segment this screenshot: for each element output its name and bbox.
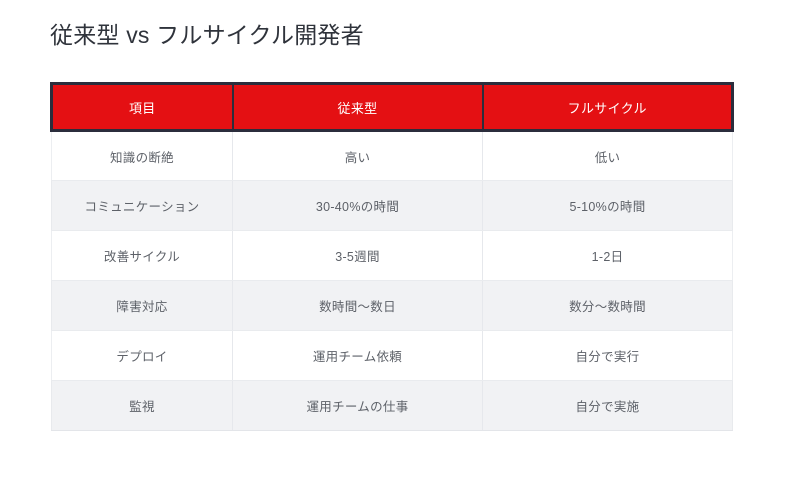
cell-traditional: 3-5週間 [233, 231, 483, 281]
cell-item: 知識の断絶 [52, 131, 233, 181]
cell-fullcycle: 自分で実行 [483, 331, 733, 381]
table-body: 知識の断絶 高い 低い コミュニケーション 30-40%の時間 5-10%の時間… [52, 131, 733, 431]
table-row: 監視 運用チームの仕事 自分で実施 [52, 381, 733, 431]
cell-fullcycle: 低い [483, 131, 733, 181]
cell-traditional: 運用チーム依頼 [233, 331, 483, 381]
table-header: 項目 従来型 フルサイクル [52, 84, 733, 131]
cell-fullcycle: 5-10%の時間 [483, 181, 733, 231]
cell-traditional: 30-40%の時間 [233, 181, 483, 231]
column-header-item: 項目 [52, 84, 233, 131]
table-row: 障害対応 数時間〜数日 数分〜数時間 [52, 281, 733, 331]
table-row: デプロイ 運用チーム依頼 自分で実行 [52, 331, 733, 381]
comparison-table: 項目 従来型 フルサイクル 知識の断絶 高い 低い コミュニケーション 30-4… [50, 82, 734, 431]
cell-traditional: 数時間〜数日 [233, 281, 483, 331]
page-title: 従来型 vs フルサイクル開発者 [50, 18, 364, 52]
table-header-row: 項目 従来型 フルサイクル [52, 84, 733, 131]
table-row: 改善サイクル 3-5週間 1-2日 [52, 231, 733, 281]
cell-item: コミュニケーション [52, 181, 233, 231]
column-header-traditional: 従来型 [233, 84, 483, 131]
column-header-fullcycle: フルサイクル [483, 84, 733, 131]
table-row: コミュニケーション 30-40%の時間 5-10%の時間 [52, 181, 733, 231]
cell-item: 監視 [52, 381, 233, 431]
cell-traditional: 運用チームの仕事 [233, 381, 483, 431]
cell-item: 改善サイクル [52, 231, 233, 281]
table-row: 知識の断絶 高い 低い [52, 131, 733, 181]
cell-traditional: 高い [233, 131, 483, 181]
cell-fullcycle: 自分で実施 [483, 381, 733, 431]
cell-item: デプロイ [52, 331, 233, 381]
slide-canvas: 従来型 vs フルサイクル開発者 項目 従来型 フルサイクル 知識の断絶 高い … [0, 0, 800, 500]
cell-fullcycle: 数分〜数時間 [483, 281, 733, 331]
comparison-table-container: 項目 従来型 フルサイクル 知識の断絶 高い 低い コミュニケーション 30-4… [50, 82, 731, 431]
cell-fullcycle: 1-2日 [483, 231, 733, 281]
cell-item: 障害対応 [52, 281, 233, 331]
